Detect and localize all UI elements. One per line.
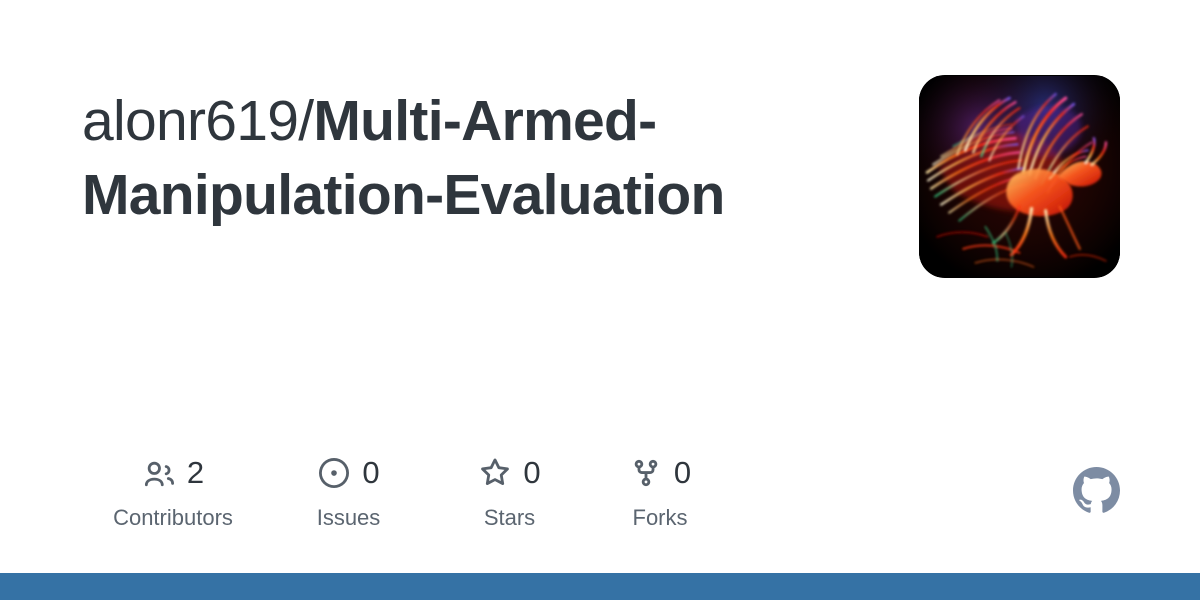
title-block: alonr619/Multi-Armed-Manipulation-Evalua… — [82, 84, 872, 232]
stat-issues: 0 Issues — [268, 452, 429, 531]
language-bar — [0, 573, 1200, 600]
stat-stars-count: 0 — [523, 456, 540, 490]
stat-contributors-top: 2 — [142, 452, 204, 494]
avatar — [919, 75, 1120, 278]
repo-forked-icon — [629, 456, 663, 490]
stat-stars-top: 0 — [478, 452, 540, 494]
stat-contributors-label: Contributors — [113, 505, 233, 531]
github-mark — [1073, 467, 1120, 514]
github-mark-icon — [1073, 467, 1120, 514]
owner-avatar-icon — [919, 75, 1120, 278]
star-icon — [478, 456, 512, 490]
stat-issues-label: Issues — [317, 505, 381, 531]
issue-opened-icon — [317, 456, 351, 490]
stat-stars: 0 Stars — [429, 452, 590, 531]
stat-forks: 0 Forks — [590, 452, 730, 531]
stat-contributors: 2 Contributors — [78, 452, 268, 531]
repo-owner: alonr619/ — [82, 89, 313, 153]
repo-stats: 2 Contributors 0 Issues — [78, 452, 730, 531]
stat-forks-label: Forks — [633, 505, 688, 531]
stat-issues-count: 0 — [362, 456, 379, 490]
stat-forks-count: 0 — [674, 456, 691, 490]
stat-forks-top: 0 — [629, 452, 691, 494]
stat-issues-top: 0 — [317, 452, 379, 494]
stat-stars-label: Stars — [484, 505, 535, 531]
people-icon — [142, 456, 176, 490]
stat-contributors-count: 2 — [187, 456, 204, 490]
page-title: alonr619/Multi-Armed-Manipulation-Evalua… — [82, 84, 872, 232]
github-social-preview-card: alonr619/Multi-Armed-Manipulation-Evalua… — [0, 0, 1200, 600]
